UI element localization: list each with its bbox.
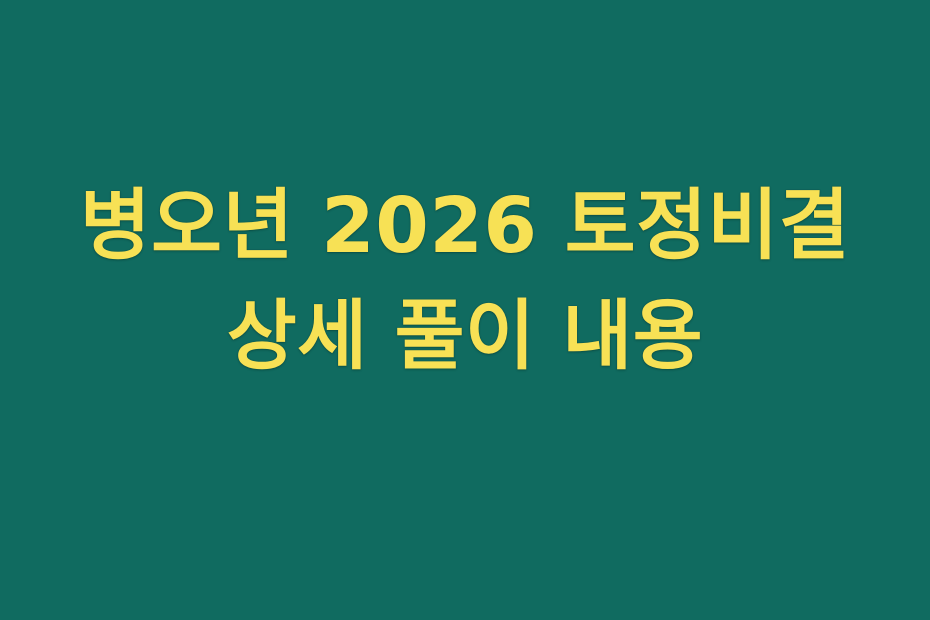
title-card: 병오년 2026 토정비결 상세 풀이 내용: [0, 0, 930, 620]
headline-block: 병오년 2026 토정비결 상세 풀이 내용: [0, 0, 930, 620]
headline-line-secondary: 상세 풀이 내용: [0, 281, 930, 390]
headline-line-primary: 병오년 2026 토정비결: [0, 172, 930, 281]
